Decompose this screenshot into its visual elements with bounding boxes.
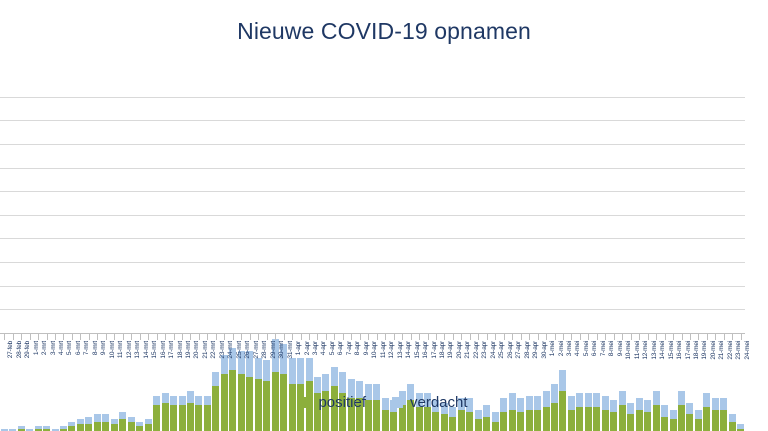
x-axis-tick	[267, 334, 268, 340]
bar-segment-positief	[644, 412, 651, 431]
bar-segment-positief	[720, 410, 727, 431]
x-axis-label: 15-mei	[668, 341, 675, 385]
x-axis-label: 3-mei	[566, 341, 573, 385]
x-axis-label: 4-mei	[574, 341, 581, 385]
x-axis-label: 11-mei	[634, 341, 641, 385]
x-axis-tick	[648, 334, 649, 340]
x-axis-label: 29-feb	[24, 341, 31, 385]
x-axis-label: 22-mrt	[210, 341, 217, 385]
bar-segment-positief	[466, 412, 473, 431]
bar-segment-positief	[145, 424, 152, 431]
x-axis-tick	[368, 334, 369, 340]
x-axis-label: 6-apr	[337, 341, 344, 385]
bar-column[interactable]	[475, 410, 482, 431]
x-axis-tick	[233, 334, 234, 340]
x-axis-label: 27-feb	[7, 341, 14, 385]
x-axis-label: 18-apr	[439, 341, 446, 385]
x-axis-label: 5-mrt	[66, 341, 73, 385]
x-axis-tick	[614, 334, 615, 340]
x-axis-tick	[385, 334, 386, 340]
x-axis-label: 9-mrt	[100, 341, 107, 385]
x-axis-label: 17-mei	[685, 341, 692, 385]
x-axis-tick	[190, 334, 191, 340]
x-axis-tick	[444, 334, 445, 340]
x-axis-tick	[97, 334, 98, 340]
bar-column[interactable]	[670, 410, 677, 431]
x-axis-tick	[394, 334, 395, 340]
bar-segment-positief	[77, 424, 84, 431]
x-axis-tick	[284, 334, 285, 340]
x-axis-label: 22-apr	[473, 341, 480, 385]
bar-segment-positief	[390, 412, 397, 431]
x-axis-tick	[580, 334, 581, 340]
x-axis-tick	[140, 334, 141, 340]
x-axis-labels: 27-feb28-feb29-feb1-mrt2-mrt3-mrt4-mrt5-…	[0, 341, 768, 385]
x-axis-label: 8-apr	[354, 341, 361, 385]
x-axis-tick	[571, 334, 572, 340]
bar-segment-positief	[517, 412, 524, 431]
x-axis-label: 1-apr	[295, 341, 302, 385]
x-axis-tick	[30, 334, 31, 340]
x-axis-label: 27-mrt	[253, 341, 260, 385]
bar-segment-verdacht	[729, 414, 736, 421]
legend-swatch-verdacht	[392, 397, 403, 408]
x-axis-label: 9-apr	[363, 341, 370, 385]
x-axis-label: 6-mrt	[75, 341, 82, 385]
x-axis-tick	[698, 334, 699, 340]
x-axis-tick	[453, 334, 454, 340]
chart-container: Nieuwe COVID-19 opnamen 27-feb28-feb29-f…	[0, 0, 768, 431]
x-axis-tick	[123, 334, 124, 340]
x-axis-tick	[470, 334, 471, 340]
x-axis-label: 16-mrt	[160, 341, 167, 385]
x-axis-label: 12-mei	[642, 341, 649, 385]
x-axis-label: 23-apr	[481, 341, 488, 385]
x-axis-tick	[148, 334, 149, 340]
bar-segment-positief	[449, 417, 456, 431]
gridline	[0, 144, 745, 145]
x-axis-label: 31-mrt	[287, 341, 294, 385]
x-axis-tick	[631, 334, 632, 340]
x-axis-label: 10-mei	[625, 341, 632, 385]
x-axis-label: 13-mrt	[134, 341, 141, 385]
bar-segment-positief	[568, 410, 575, 431]
bar-column[interactable]	[737, 424, 744, 431]
bar-segment-positief	[458, 410, 465, 431]
x-axis-label: 2-apr	[304, 341, 311, 385]
x-axis-tick	[275, 334, 276, 340]
bar-column[interactable]	[145, 419, 152, 431]
x-axis-label: 14-mei	[659, 341, 666, 385]
bar-segment-positief	[686, 414, 693, 431]
bar-segment-positief	[636, 410, 643, 431]
x-axis-tick	[55, 334, 56, 340]
x-axis-tick	[732, 334, 733, 340]
x-axis-label: 21-mei	[718, 341, 725, 385]
x-axis-tick	[72, 334, 73, 340]
x-axis-label: 10-apr	[371, 341, 378, 385]
x-axis-tick	[165, 334, 166, 340]
x-axis-label: 18-mei	[693, 341, 700, 385]
x-axis-tick	[301, 334, 302, 340]
bar-segment-positief	[492, 422, 499, 431]
x-axis-label: 12-mrt	[126, 341, 133, 385]
x-axis-tick	[436, 334, 437, 340]
bar-segment-positief	[94, 422, 101, 431]
x-axis-tick	[157, 334, 158, 340]
bar-column[interactable]	[119, 412, 126, 431]
bars-layer	[0, 171, 768, 431]
gridline	[0, 97, 745, 98]
x-axis-tick	[360, 334, 361, 340]
x-axis-label: 14-mrt	[143, 341, 150, 385]
x-axis-label: 7-mei	[600, 341, 607, 385]
x-axis-label: 26-mrt	[244, 341, 251, 385]
x-axis-label: 15-mrt	[151, 341, 158, 385]
bar-segment-positief	[441, 414, 448, 431]
x-axis-label: 5-apr	[329, 341, 336, 385]
legend-label-verdacht: verdacht	[410, 394, 468, 411]
x-axis-tick	[563, 334, 564, 340]
x-axis-tick	[639, 334, 640, 340]
x-axis-tick	[4, 334, 5, 340]
x-axis-label: 2-mrt	[41, 341, 48, 385]
x-axis-tick	[38, 334, 39, 340]
bar-column[interactable]	[136, 422, 143, 431]
x-axis-tick	[546, 334, 547, 340]
bar-column[interactable]	[729, 414, 736, 431]
x-axis-label: 17-apr	[431, 341, 438, 385]
x-axis-label: 4-apr	[320, 341, 327, 385]
bar-segment-positief	[695, 419, 702, 431]
bar-segment-positief	[729, 422, 736, 431]
bar-segment-positief	[136, 426, 143, 431]
x-axis-tick	[419, 334, 420, 340]
x-axis-tick	[377, 334, 378, 340]
bar-column[interactable]	[85, 417, 92, 431]
x-axis-tick	[250, 334, 251, 340]
x-axis-label: 10-mrt	[109, 341, 116, 385]
bar-segment-positief	[712, 410, 719, 431]
gridline	[0, 120, 745, 121]
x-axis-tick	[512, 334, 513, 340]
x-axis-tick	[216, 334, 217, 340]
legend-swatch-positief	[300, 397, 311, 408]
bar-column[interactable]	[94, 414, 101, 431]
x-axis-label: 15-apr	[414, 341, 421, 385]
x-axis-tick	[588, 334, 589, 340]
bar-column[interactable]	[102, 414, 109, 431]
legend-label-positief: positief	[318, 394, 366, 411]
x-axis-label: 21-mrt	[202, 341, 209, 385]
x-axis-tick	[487, 334, 488, 340]
x-axis-label: 9-mei	[617, 341, 624, 385]
x-axis-label: 16-apr	[422, 341, 429, 385]
x-axis-label: 11-apr	[380, 341, 387, 385]
x-axis-tick	[665, 334, 666, 340]
bar-segment-verdacht	[85, 417, 92, 424]
x-axis-label: 27-apr	[515, 341, 522, 385]
bar-segment-positief	[102, 422, 109, 431]
x-axis-label: 23-mrt	[219, 341, 226, 385]
bar-segment-positief	[382, 410, 389, 431]
x-axis-tick	[402, 334, 403, 340]
x-axis-label: 3-apr	[312, 341, 319, 385]
x-axis-label: 19-mrt	[185, 341, 192, 385]
bar-segment-positief	[627, 414, 634, 431]
x-axis-label: 30-mrt	[278, 341, 285, 385]
x-axis-tick	[682, 334, 683, 340]
x-axis-ticks	[0, 334, 768, 341]
x-axis-tick	[521, 334, 522, 340]
x-axis-tick	[63, 334, 64, 340]
x-axis-tick	[724, 334, 725, 340]
x-axis-tick	[114, 334, 115, 340]
x-axis-label: 29-apr	[532, 341, 539, 385]
bar-segment-positief	[432, 412, 439, 431]
x-axis-tick	[707, 334, 708, 340]
x-axis-tick	[326, 334, 327, 340]
bar-segment-positief	[119, 419, 126, 431]
x-axis-tick	[690, 334, 691, 340]
chart-title: Nieuwe COVID-19 opnamen	[0, 18, 768, 45]
x-axis-tick	[495, 334, 496, 340]
x-axis-label: 21-apr	[464, 341, 471, 385]
x-axis-label: 30-apr	[541, 341, 548, 385]
x-axis-tick	[555, 334, 556, 340]
bar-segment-verdacht	[119, 412, 126, 419]
chart-legend: positief verdacht	[0, 394, 768, 411]
bar-segment-positief	[610, 412, 617, 431]
x-axis-tick	[80, 334, 81, 340]
bar-segment-positief	[602, 410, 609, 431]
x-axis-tick	[13, 334, 14, 340]
x-axis-label: 17-mrt	[168, 341, 175, 385]
x-axis-label: 19-apr	[447, 341, 454, 385]
bar-segment-positief	[483, 417, 490, 431]
x-axis-tick	[622, 334, 623, 340]
x-axis-label: 23-mei	[735, 341, 742, 385]
bar-segment-positief	[111, 424, 118, 431]
bar-column[interactable]	[695, 410, 702, 431]
x-axis-label: 2-mei	[558, 341, 565, 385]
x-axis-label: 1-mei	[549, 341, 556, 385]
x-axis-label: 22-mei	[727, 341, 734, 385]
bar-column[interactable]	[35, 426, 42, 431]
x-axis-label: 16-mei	[676, 341, 683, 385]
bar-column[interactable]	[111, 419, 118, 431]
bar-column[interactable]	[77, 419, 84, 431]
x-axis-tick	[224, 334, 225, 340]
x-axis-label: 7-mrt	[83, 341, 90, 385]
x-axis-tick	[317, 334, 318, 340]
bar-column[interactable]	[128, 417, 135, 431]
bar-segment-verdacht	[94, 414, 101, 421]
bar-segment-verdacht	[492, 412, 499, 421]
bar-segment-verdacht	[695, 410, 702, 419]
x-axis-label: 14-apr	[405, 341, 412, 385]
x-axis-tick	[241, 334, 242, 340]
bar-column[interactable]	[68, 422, 75, 431]
legend-item-positief[interactable]: positief	[300, 394, 366, 411]
bar-segment-positief	[534, 410, 541, 431]
x-axis-tick	[504, 334, 505, 340]
gridline	[0, 168, 745, 169]
x-axis-label: 8-mrt	[92, 341, 99, 385]
x-axis-tick	[182, 334, 183, 340]
x-axis-label: 20-mei	[710, 341, 717, 385]
bar-segment-positief	[85, 424, 92, 431]
x-axis-label: 28-feb	[16, 341, 23, 385]
legend-item-verdacht[interactable]: verdacht	[392, 394, 468, 411]
x-axis-tick	[258, 334, 259, 340]
bar-segment-verdacht	[102, 414, 109, 421]
x-axis-tick	[605, 334, 606, 340]
x-axis-label: 24-apr	[490, 341, 497, 385]
bar-segment-positief	[509, 410, 516, 431]
x-axis-tick	[478, 334, 479, 340]
bar-segment-verdacht	[670, 410, 677, 419]
bar-segment-positief	[475, 419, 482, 431]
x-axis-tick	[741, 334, 742, 340]
x-axis-tick	[461, 334, 462, 340]
x-axis-label: 3-mrt	[50, 341, 57, 385]
bar-column[interactable]	[492, 412, 499, 431]
x-axis-label: 13-mei	[651, 341, 658, 385]
x-axis-tick	[411, 334, 412, 340]
bar-segment-positief	[670, 419, 677, 431]
x-axis-label: 24-mei	[744, 341, 751, 385]
x-axis-label: 19-mei	[701, 341, 708, 385]
x-axis-tick	[106, 334, 107, 340]
x-axis-tick	[199, 334, 200, 340]
bar-segment-verdacht	[475, 410, 482, 419]
x-axis-label: 25-mrt	[236, 341, 243, 385]
x-axis-tick	[21, 334, 22, 340]
x-axis-tick	[597, 334, 598, 340]
x-axis-tick	[292, 334, 293, 340]
x-axis-label: 8-mei	[608, 341, 615, 385]
x-axis-tick	[309, 334, 310, 340]
x-axis-tick	[207, 334, 208, 340]
x-axis-label: 18-mrt	[177, 341, 184, 385]
bar-segment-positief	[68, 426, 75, 431]
bar-segment-positief	[128, 422, 135, 431]
x-axis-label: 5-mei	[583, 341, 590, 385]
x-axis-tick	[538, 334, 539, 340]
x-axis-label: 1-mrt	[33, 341, 40, 385]
x-axis-label: 29-mrt	[270, 341, 277, 385]
x-axis-tick	[131, 334, 132, 340]
x-axis-tick	[343, 334, 344, 340]
x-axis-label: 13-apr	[397, 341, 404, 385]
bar-column[interactable]	[43, 426, 50, 431]
bar-column[interactable]	[18, 426, 25, 431]
x-axis-tick	[673, 334, 674, 340]
x-axis-tick	[47, 334, 48, 340]
x-axis-tick	[656, 334, 657, 340]
x-axis-tick	[529, 334, 530, 340]
x-axis-label: 20-mrt	[193, 341, 200, 385]
x-axis-label: 11-mrt	[117, 341, 124, 385]
x-axis-label: 4-mrt	[58, 341, 65, 385]
x-axis-label: 12-apr	[388, 341, 395, 385]
x-axis-tick	[174, 334, 175, 340]
x-axis-tick	[428, 334, 429, 340]
x-axis-label: 26-apr	[507, 341, 514, 385]
x-axis-label: 24-mrt	[227, 341, 234, 385]
x-axis-tick	[89, 334, 90, 340]
x-axis-label: 28-mrt	[261, 341, 268, 385]
x-axis-label: 6-mei	[591, 341, 598, 385]
bar-segment-positief	[500, 412, 507, 431]
bar-segment-positief	[526, 410, 533, 431]
x-axis-label: 7-apr	[346, 341, 353, 385]
bar-segment-positief	[661, 417, 668, 431]
bar-column[interactable]	[60, 426, 67, 431]
x-axis-label: 20-apr	[456, 341, 463, 385]
x-axis-label: 25-apr	[498, 341, 505, 385]
x-axis-tick	[715, 334, 716, 340]
x-axis-label: 28-apr	[524, 341, 531, 385]
x-axis-tick	[351, 334, 352, 340]
x-axis-tick	[334, 334, 335, 340]
